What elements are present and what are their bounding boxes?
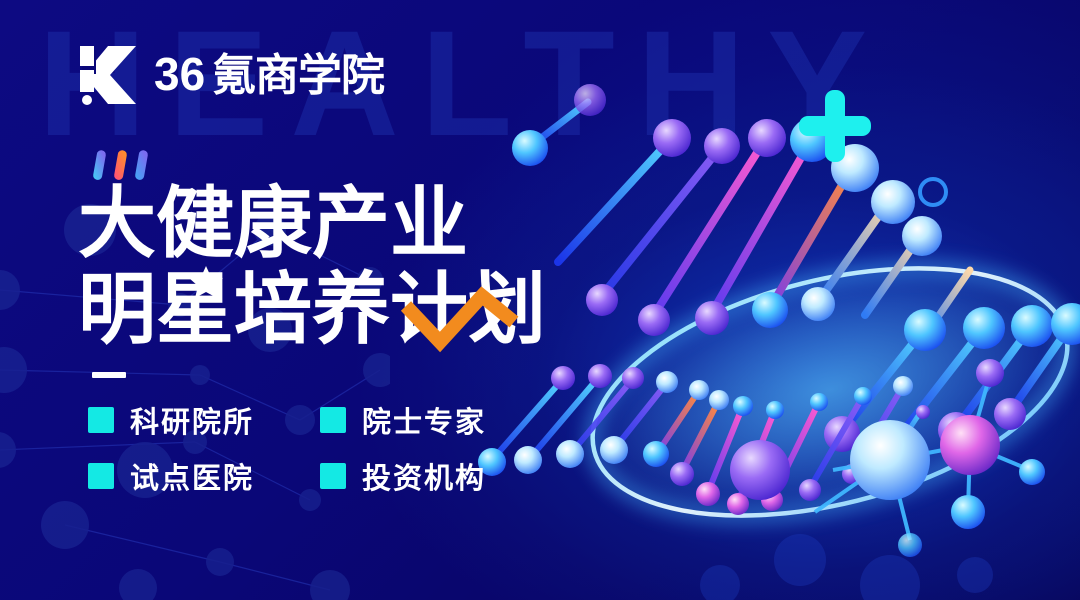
feature-tag-investment-institution[interactable]: 投资机构 <box>320 448 538 504</box>
svg-text:36: 36 <box>154 49 205 100</box>
tag-bullet-icon <box>88 407 114 433</box>
feature-tag-label: 投资机构 <box>362 455 486 497</box>
tag-bullet-icon <box>320 463 346 489</box>
title-underline-dash <box>92 372 126 378</box>
feature-tag-label: 试点医院 <box>130 455 254 497</box>
feature-tag-list: 科研院所 院士专家 试点医院 投资机构 <box>88 392 538 504</box>
feature-tag-academician-expert[interactable]: 院士专家 <box>320 392 538 448</box>
feature-tag-label: 院士专家 <box>362 399 486 441</box>
brand-logo[interactable]: 36 氪商学院 <box>78 44 414 106</box>
headline-line-2: 明星培养计划 <box>78 260 578 360</box>
accent-bars <box>92 148 162 182</box>
headline-line-1: 大健康产业 <box>78 180 578 266</box>
feature-tag-label: 科研院所 <box>130 399 254 441</box>
brand-logo-text: 36 氪商学院 <box>154 49 414 101</box>
small-ring-outline <box>920 179 946 205</box>
feature-tag-pilot-hospital[interactable]: 试点医院 <box>88 448 320 504</box>
tag-bullet-icon <box>88 463 114 489</box>
tag-bullet-icon <box>320 407 346 433</box>
feature-tag-research-institute[interactable]: 科研院所 <box>88 392 320 448</box>
36kr-chevron-k-logo <box>78 44 140 106</box>
headline-block: 大健康产业 明星培养计划 <box>78 180 598 360</box>
poster-canvas: HEALTHY <box>0 0 1080 600</box>
svg-text:氪商学院: 氪商学院 <box>212 51 385 100</box>
headline-line-1-text: 大健康产业 <box>78 180 468 266</box>
